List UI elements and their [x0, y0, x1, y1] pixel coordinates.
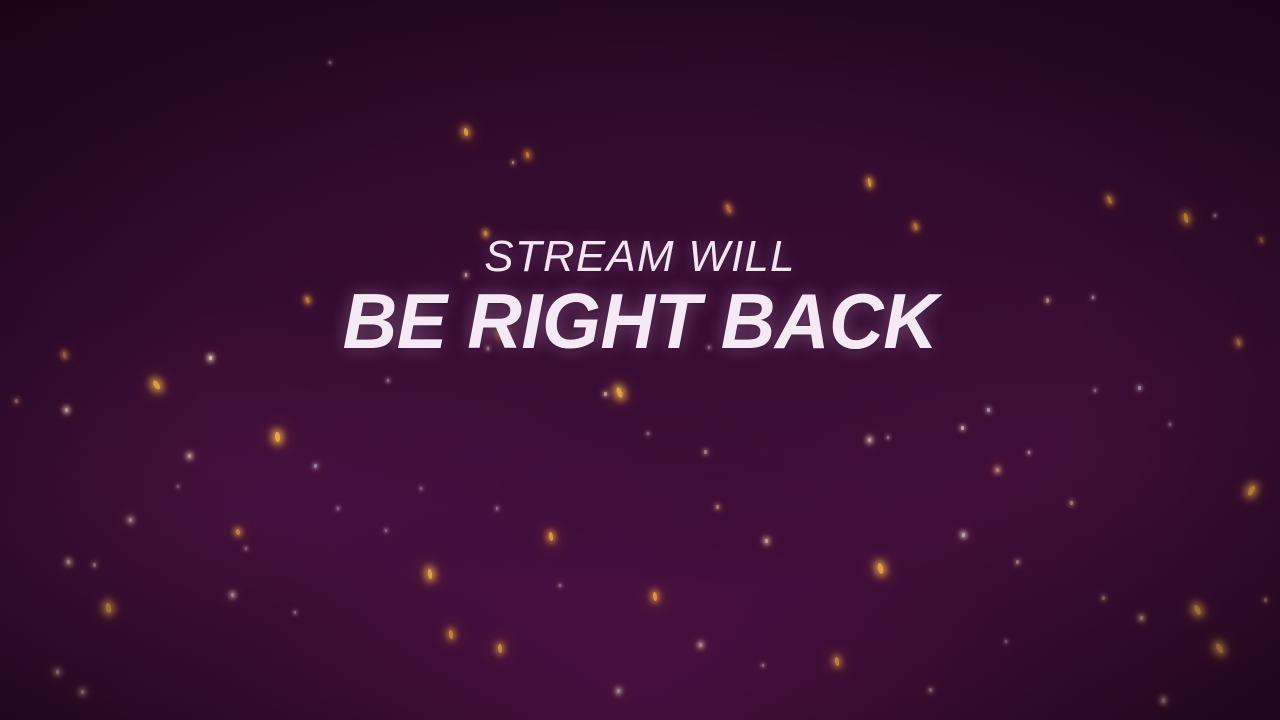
- stream-break-screen: STREAM WILL BE RIGHT BACK: [0, 0, 1280, 720]
- title-line-primary: STREAM WILL: [0, 232, 1280, 282]
- title-line-secondary: BE RIGHT BACK: [19, 280, 1261, 362]
- title-block: STREAM WILL BE RIGHT BACK: [0, 232, 1280, 362]
